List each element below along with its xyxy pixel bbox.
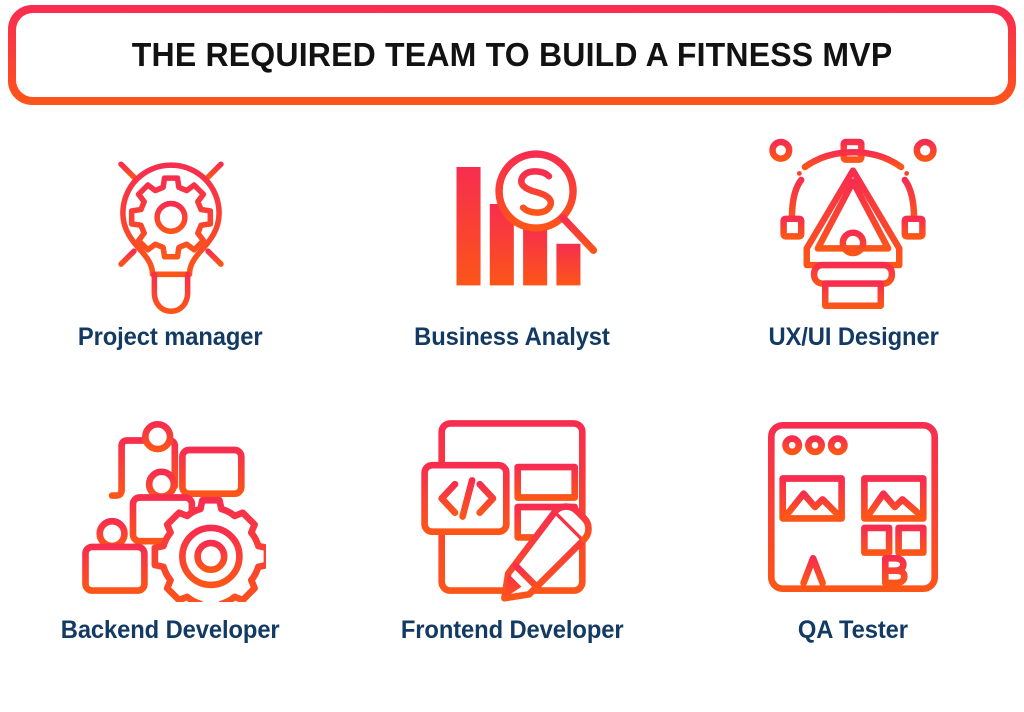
lightbulb-gear-icon: [76, 130, 266, 315]
ab-test-browser-icon: [758, 412, 948, 602]
role-label: Business Analyst: [414, 323, 610, 352]
role-label: Project manager: [78, 323, 263, 352]
title-banner: THE REQUIRED TEAM TO BUILD A FITNESS MVP: [8, 5, 1016, 105]
node-tree-gear-icon: [76, 412, 266, 602]
role-card-project-manager: Project manager: [0, 112, 341, 402]
role-label: Backend Developer: [61, 616, 280, 645]
role-label: UX/UI Designer: [768, 323, 938, 352]
role-card-frontend-developer: Frontend Developer: [341, 402, 682, 692]
bar-chart-magnifier-dollar-icon: [417, 130, 607, 315]
role-card-qa-tester: QA Tester: [683, 402, 1024, 692]
role-label: Frontend Developer: [401, 616, 624, 645]
role-card-business-analyst: Business Analyst: [341, 112, 682, 402]
page-title: THE REQUIRED TEAM TO BUILD A FITNESS MVP: [132, 36, 893, 74]
team-roles-grid: Project manager: [0, 112, 1024, 692]
role-label: QA Tester: [798, 616, 908, 645]
pen-tool-bezier-icon: [758, 130, 948, 315]
role-card-ux-ui-designer: UX/UI Designer: [683, 112, 1024, 402]
role-card-backend-developer: Backend Developer: [0, 402, 341, 692]
title-banner-inner: THE REQUIRED TEAM TO BUILD A FITNESS MVP: [16, 13, 1008, 97]
browser-code-pencil-icon: [417, 412, 607, 602]
